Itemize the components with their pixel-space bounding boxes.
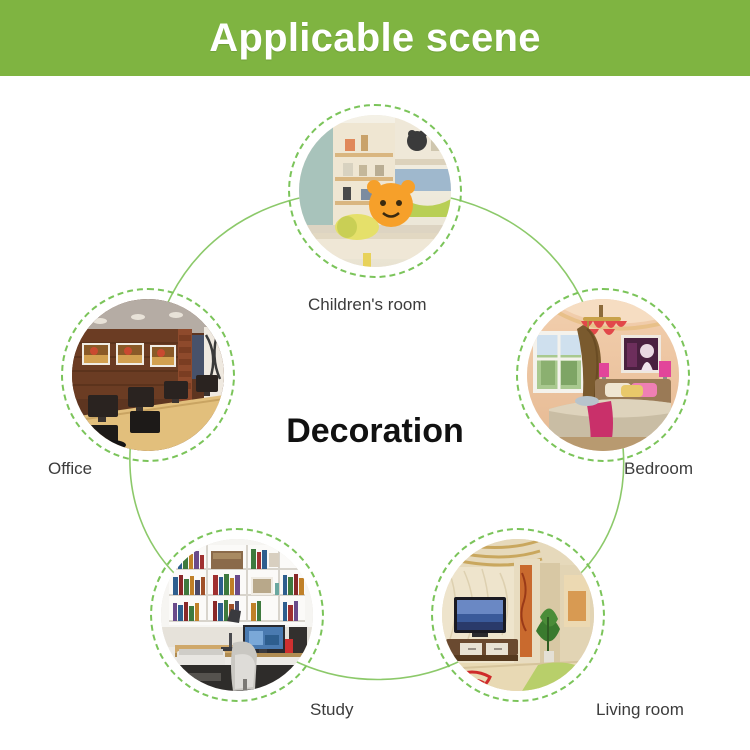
children-room-photo: [299, 115, 451, 267]
study-photo: [161, 539, 313, 691]
scene-label-children-room: Children's room: [308, 295, 427, 315]
living-room-photo: [442, 539, 594, 691]
scene-label-bedroom: Bedroom: [624, 459, 693, 479]
scene-node-living-room[interactable]: [431, 528, 605, 702]
scene-node-children-room[interactable]: [288, 104, 462, 278]
applicable-scene-diagram: Children's room: [0, 76, 750, 750]
scene-label-living-room: Living room: [596, 700, 684, 720]
scene-label-office: Office: [48, 459, 92, 479]
scene-label-study: Study: [310, 700, 353, 720]
scene-node-study[interactable]: [150, 528, 324, 702]
page-title: Applicable scene: [209, 16, 541, 61]
header-banner: Applicable scene: [0, 0, 750, 76]
diagram-center-label: Decoration: [0, 412, 750, 451]
